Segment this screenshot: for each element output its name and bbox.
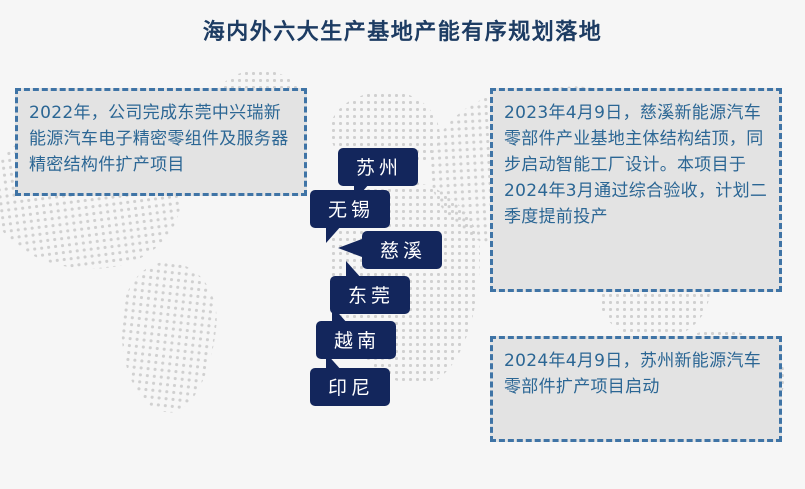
- info-panel-text: 2023年4月9日，慈溪新能源汽车零部件产业基地主体结构结顶，同步启动智能工厂设…: [504, 100, 769, 230]
- info-panel-cixi-2023: 2023年4月9日，慈溪新能源汽车零部件产业基地主体结构结顶，同步启动智能工厂设…: [490, 88, 782, 292]
- page-title: 海内外六大生产基地产能有序规划落地: [0, 14, 805, 46]
- site-badge-label: 慈溪: [380, 240, 426, 262]
- site-badge-label: 东莞: [348, 285, 394, 307]
- site-badge-cixi[interactable]: 慈溪: [362, 231, 442, 269]
- speech-tail-icon: [332, 306, 348, 324]
- info-panel-suzhou-2024: 2024年4月9日，苏州新能源汽车零部件扩产项目启动: [490, 336, 782, 442]
- speech-tail-icon: [338, 239, 362, 257]
- map-region-south-america: [112, 257, 222, 416]
- site-badge-indonesia[interactable]: 印尼: [310, 368, 390, 406]
- site-badge-label: 越南: [334, 330, 380, 352]
- info-panel-text: 2022年，公司完成东莞中兴瑞新能源汽车电子精密零组件及服务器精密结构件扩产项目: [29, 100, 294, 178]
- site-badge-wuxi[interactable]: 无锡: [310, 190, 390, 228]
- site-badge-label: 印尼: [328, 377, 374, 399]
- site-badge-suzhou[interactable]: 苏州: [338, 148, 418, 186]
- site-badge-label: 苏州: [356, 157, 402, 179]
- speech-tail-icon: [346, 261, 362, 279]
- info-panel-dongguan-2022: 2022年，公司完成东莞中兴瑞新能源汽车电子精密零组件及服务器精密结构件扩产项目: [15, 88, 307, 196]
- slide-canvas: 海内外六大生产基地产能有序规划落地 2022年，公司完成东莞中兴瑞新能源汽车电子…: [0, 0, 805, 489]
- site-badge-label: 无锡: [328, 199, 374, 221]
- info-panel-text: 2024年4月9日，苏州新能源汽车零部件扩产项目启动: [504, 348, 769, 400]
- speech-tail-icon: [326, 353, 342, 371]
